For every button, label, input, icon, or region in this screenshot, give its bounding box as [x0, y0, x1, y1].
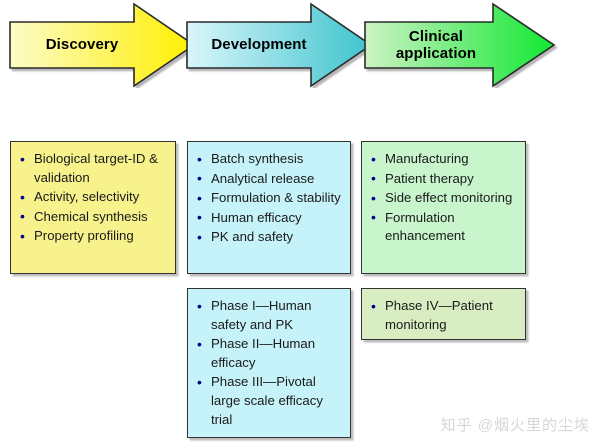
discovery-activities-box: Biological target-ID & validation Activi…	[10, 141, 176, 274]
list-item: Chemical synthesis	[19, 208, 169, 227]
list-item: Analytical release	[196, 170, 344, 189]
clinical-activities-box: Manufacturing Patient therapy Side effec…	[361, 141, 526, 274]
list-item: PK and safety	[196, 228, 344, 247]
list-item: Manufacturing	[370, 150, 519, 169]
list-item: Batch synthesis	[196, 150, 344, 169]
diagram-canvas: Discovery Development	[0, 0, 600, 446]
list-item: Side effect monitoring	[370, 189, 519, 208]
clinical-activities-list: Manufacturing Patient therapy Side effec…	[370, 150, 519, 246]
list-item: Formulation & stability	[196, 189, 344, 208]
stage-arrow-development: Development	[185, 2, 375, 88]
post-marketing-phase-box: Phase IV—Patient monitoring	[361, 288, 526, 340]
development-activities-box: Batch synthesis Analytical release Formu…	[187, 141, 351, 274]
list-item: Phase III—Pivotal large scale efficacy t…	[196, 373, 344, 429]
list-item: Phase II—Human efficacy	[196, 335, 344, 372]
clinical-phases-box: Phase I—Human safety and PK Phase II—Hum…	[187, 288, 351, 438]
list-item: Phase IV—Patient monitoring	[370, 297, 519, 334]
list-item: Human efficacy	[196, 209, 344, 228]
list-item: Formulation enhancement	[370, 209, 519, 246]
list-item: Property profiling	[19, 227, 169, 246]
post-marketing-phase-list: Phase IV—Patient monitoring	[370, 297, 519, 334]
development-arrow-label: Development	[191, 2, 327, 88]
stage-arrow-clinical-application: Clinical application	[363, 2, 559, 88]
list-item: Biological target-ID & validation	[19, 150, 169, 187]
list-item: Phase I—Human safety and PK	[196, 297, 344, 334]
discovery-arrow-label: Discovery	[14, 2, 150, 88]
development-activities-list: Batch synthesis Analytical release Formu…	[196, 150, 344, 247]
list-item: Activity, selectivity	[19, 188, 169, 207]
discovery-activities-list: Biological target-ID & validation Activi…	[19, 150, 169, 246]
clinical-phases-list: Phase I—Human safety and PK Phase II—Hum…	[196, 297, 344, 429]
stage-arrow-discovery: Discovery	[8, 2, 198, 88]
clinical-application-arrow-label: Clinical application	[369, 2, 503, 88]
watermark: 知乎 @烟火里的尘埃	[441, 414, 590, 435]
list-item: Patient therapy	[370, 170, 519, 189]
